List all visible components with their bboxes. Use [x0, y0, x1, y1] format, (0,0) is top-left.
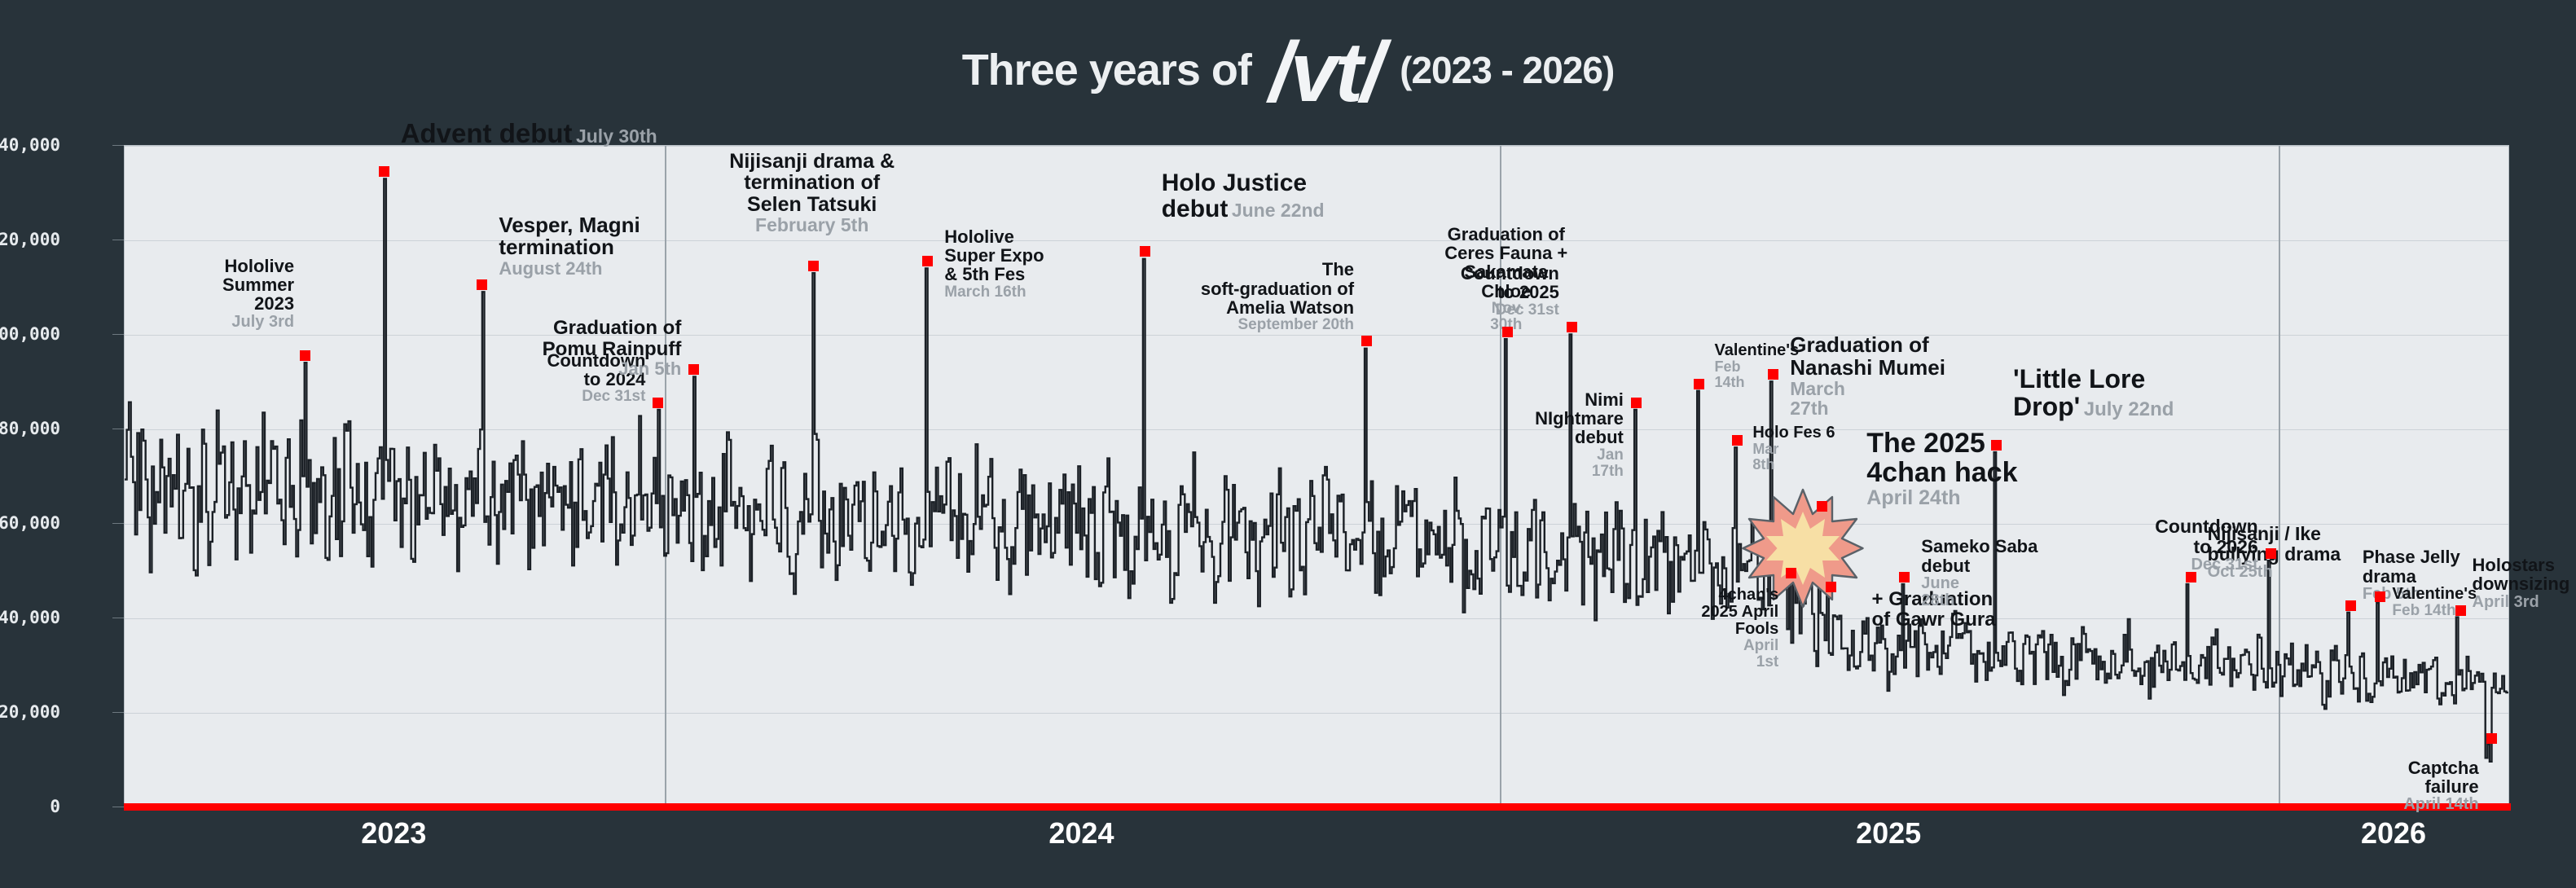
y-axis-tick-label: 60,000: [0, 513, 60, 533]
event-marker[interactable]: [653, 398, 663, 408]
annotation-title: Sameko Sabadebut: [1921, 537, 2038, 575]
annotation-title: Thesoft-graduation ofAmelia Watson: [1201, 260, 1354, 317]
x-axis-year-label-2026: 2026: [2361, 816, 2426, 851]
annotation: 4chan's2025 AprilFoolsApril1st: [1701, 587, 1778, 671]
annotation: Countdownto 2025Dec 31st: [1461, 264, 1559, 319]
event-marker[interactable]: [300, 350, 310, 361]
annotation: HolostarsdownsizingApril 3rd: [2473, 556, 2570, 611]
plot-area: [124, 145, 2509, 807]
annotation: CaptchafailureApril 14th: [2403, 758, 2478, 814]
event-marker[interactable]: [1826, 582, 1836, 592]
annotation-date: Dec 31st: [2155, 556, 2257, 574]
annotation: Valentine'sFeb14th: [1714, 342, 1799, 390]
annotation: Holo Justicedebut June 22nd: [1162, 170, 1325, 222]
event-marker[interactable]: [2486, 733, 2497, 744]
event-marker[interactable]: [922, 256, 933, 266]
annotation: HololiveSuper Expo& 5th FesMarch 16th: [944, 227, 1044, 301]
annotation-date: April 3rd: [2473, 594, 2570, 611]
annotation-date: July 30th: [576, 125, 657, 147]
event-marker[interactable]: [1694, 379, 1704, 389]
annotation-date: July 22nd: [2084, 398, 2174, 420]
event-marker[interactable]: [1817, 501, 1827, 512]
baseline-rule: [124, 803, 2511, 811]
annotation: Nijisanji drama &termination ofSelen Tat…: [729, 151, 895, 235]
annotation-title: The 20254chan hack: [1866, 429, 2017, 487]
event-marker[interactable]: [1991, 440, 2002, 451]
annotation-title: Phase Jellydrama: [2363, 547, 2460, 586]
annotation-date: August 24th: [499, 259, 640, 278]
event-marker[interactable]: [1502, 327, 1513, 337]
y-axis-tick-label: 80,000: [0, 419, 60, 438]
event-marker[interactable]: [1732, 435, 1743, 446]
annotation: Sameko SabadebutJune28th: [1921, 537, 2038, 609]
annotation-title: Advent debut: [401, 118, 573, 148]
annotation-date: Jan17th: [1535, 447, 1624, 480]
annotation-title: Graduation ofPomu Rainpuff: [543, 318, 682, 359]
annotation: Advent debut July 30th: [401, 120, 657, 148]
annotation: Vesper, MagniterminationAugust 24th: [499, 214, 640, 278]
data-series-line: [125, 146, 2508, 806]
event-marker[interactable]: [1786, 568, 1796, 578]
annotation: Graduation ofNanashi MumeiMarch27th: [1790, 334, 1945, 419]
event-marker[interactable]: [379, 166, 389, 177]
event-marker[interactable]: [2345, 600, 2356, 611]
annotation-title: Countdownto 2025: [1461, 264, 1559, 302]
annotation-date: Feb14th: [1714, 359, 1799, 390]
x-axis-year-label-2025: 2025: [1856, 816, 1921, 851]
title-year-range: (2023 - 2026): [1400, 48, 1614, 92]
y-axis-tick-mark: [112, 429, 124, 429]
y-axis-tick-label: 20,000: [0, 702, 60, 722]
event-marker[interactable]: [688, 364, 699, 375]
annotation-title: Vesper, Magnitermination: [499, 214, 640, 259]
annotation-title: NimiNIghtmaredebut: [1535, 390, 1624, 447]
annotation-title: Valentine's: [2392, 586, 2477, 603]
event-marker[interactable]: [2266, 548, 2276, 559]
annotation: Holo Fes 6Mar8th: [1752, 424, 1835, 473]
annotation-title: Holostarsdownsizing: [2473, 556, 2570, 594]
title-board-name: /vt/: [1269, 38, 1382, 108]
annotation-title: Holo Fes 6: [1752, 424, 1835, 442]
annotation-date: Dec 31st: [547, 389, 645, 405]
annotation-date: June 22nd: [1232, 200, 1325, 221]
x-axis-year-label-2023: 2023: [361, 816, 426, 851]
annotation: 'Little LoreDrop' July 22nd: [2013, 366, 2174, 421]
event-marker[interactable]: [1361, 336, 1372, 346]
y-axis-tick-label: 120,000: [0, 230, 60, 249]
event-marker[interactable]: [1631, 398, 1642, 408]
y-axis-tick-mark: [112, 618, 124, 618]
annotation-date: September 20th: [1201, 317, 1354, 333]
plot-wrapper: HololiveSummer2023July 3rdAdvent debut J…: [124, 145, 2509, 807]
annotation-title: Valentine's: [1714, 342, 1799, 359]
annotation-title: HololiveSummer2023: [222, 257, 294, 314]
y-axis-tick-mark: [112, 240, 124, 240]
annotation-date: April 14th: [2403, 796, 2478, 813]
annotation-date: Mar8th: [1752, 442, 1835, 473]
y-axis-tick-mark: [112, 523, 124, 524]
y-axis-tick-mark: [112, 145, 124, 146]
y-axis-tick-mark: [112, 712, 124, 713]
annotation-title: Nijisanji drama &termination ofSelen Tat…: [729, 151, 895, 216]
event-marker[interactable]: [2186, 572, 2196, 582]
annotation-date: April1st: [1701, 638, 1778, 670]
event-marker[interactable]: [1140, 246, 1150, 257]
event-marker[interactable]: [2375, 591, 2385, 602]
y-axis-tick-label: 100,000: [0, 324, 60, 344]
annotation: Countdownto 2026Dec 31st: [2155, 517, 2257, 574]
y-axis-tick-label: 40,000: [0, 608, 60, 627]
annotation-date: March27th: [1790, 379, 1945, 419]
annotation-date: March 16th: [944, 284, 1044, 301]
y-axis-tick-mark: [112, 807, 124, 807]
annotation: HololiveSummer2023July 3rd: [222, 257, 294, 331]
event-marker[interactable]: [1899, 572, 1910, 582]
annotation: NimiNIghtmaredebutJan17th: [1535, 390, 1624, 480]
annotation-title: Captchafailure: [2403, 758, 2478, 797]
title-prefix: Three years of: [962, 45, 1251, 95]
annotation-title: 4chan's2025 AprilFools: [1701, 587, 1778, 639]
event-marker[interactable]: [808, 261, 819, 271]
event-marker[interactable]: [477, 279, 487, 290]
y-axis-tick-label: 0: [0, 797, 60, 816]
annotation-title: HololiveSuper Expo& 5th Fes: [944, 227, 1044, 284]
event-marker[interactable]: [1768, 369, 1778, 380]
event-marker[interactable]: [1567, 322, 1577, 332]
annotation: Graduation ofPomu RainpuffJan 5th: [543, 318, 682, 378]
annotation-date: June28th: [1921, 575, 2038, 609]
y-axis-tick-mark: [112, 334, 124, 335]
annotation: Thesoft-graduation ofAmelia WatsonSeptem…: [1201, 260, 1354, 333]
annotation-date: July 3rd: [222, 314, 294, 331]
y-axis-tick-label: 140,000: [0, 135, 60, 155]
annotation-title: Graduation ofNanashi Mumei: [1790, 334, 1945, 379]
annotation-date: Dec 31st: [1461, 302, 1559, 319]
chart-title-bar: Three years of /vt/ (2023 - 2026): [0, 0, 2576, 140]
annotation-title: Countdownto 2026: [2155, 517, 2257, 556]
annotation-date: Jan 5th: [543, 359, 682, 378]
x-axis-year-label-2024: 2024: [1048, 816, 1114, 851]
annotation-date: April 24th: [1866, 487, 2017, 509]
event-marker[interactable]: [2455, 605, 2466, 616]
annotation-date: February 5th: [729, 215, 895, 235]
